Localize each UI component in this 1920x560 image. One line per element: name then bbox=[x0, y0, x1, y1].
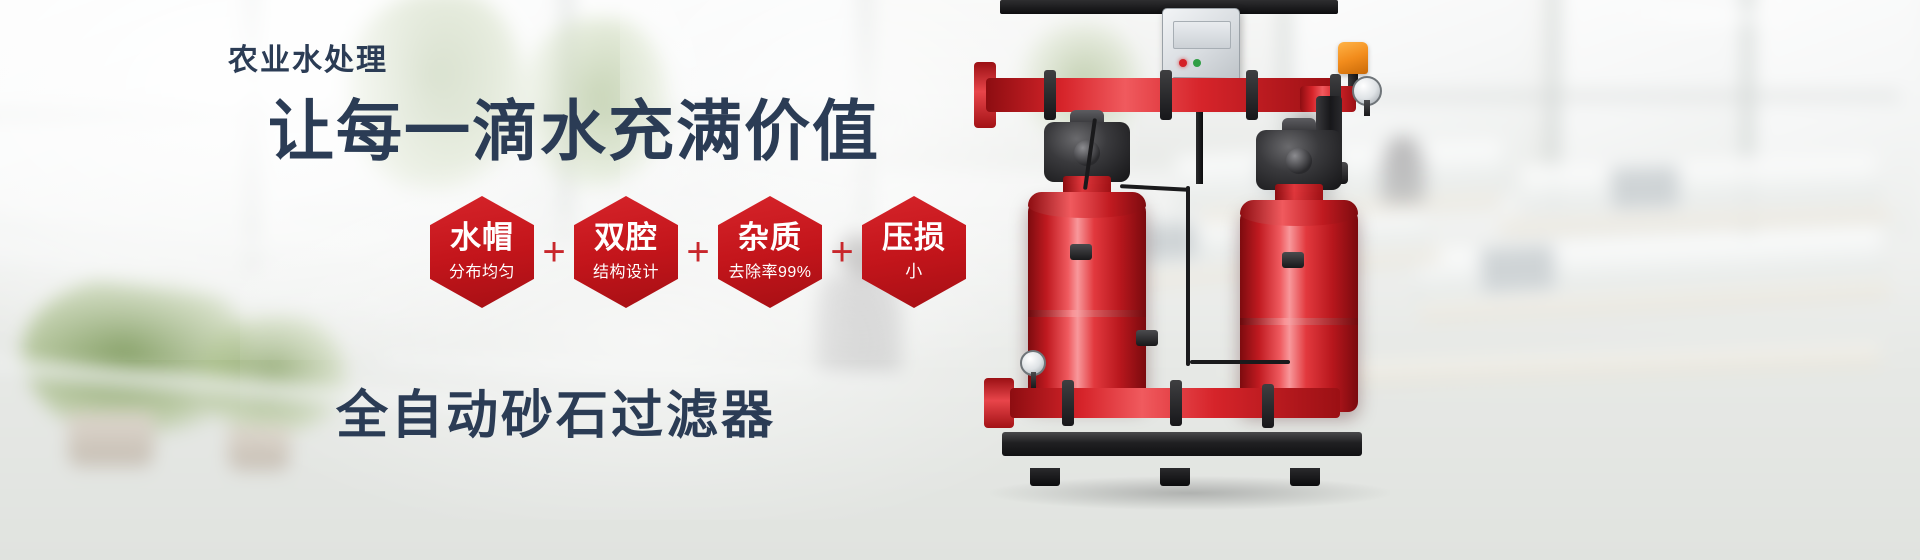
banner-content: 农业水处理 让每一滴水充满价值 水帽 分布均匀 + 双腔 结构设计 + 杂质 bbox=[0, 0, 1060, 560]
hexagon-shape-3: 杂质 去除率99% bbox=[718, 196, 822, 308]
hexagon-shape-1: 水帽 分布均匀 bbox=[430, 196, 534, 308]
base-foot-2 bbox=[1160, 468, 1190, 486]
pipe-flange-2 bbox=[1160, 70, 1172, 120]
bottom-pipe-flange-1 bbox=[1062, 380, 1074, 426]
bottom-pipe-flange-2 bbox=[1170, 380, 1182, 426]
control-cable-4 bbox=[1120, 184, 1190, 192]
badge-3-title: 杂质 bbox=[738, 222, 802, 255]
pipe-flange-3 bbox=[1246, 70, 1258, 120]
badge-3-subtitle: 去除率99% bbox=[728, 258, 811, 282]
badge-1-title: 水帽 bbox=[450, 222, 514, 255]
pressure-gauge-top-stem bbox=[1364, 100, 1370, 116]
feature-badge-row: 水帽 分布均匀 + 双腔 结构设计 + 杂质 去除率99% + bbox=[430, 196, 966, 308]
control-box-led-red bbox=[1179, 59, 1187, 67]
relief-valve bbox=[1338, 42, 1368, 74]
promotional-banner: 农业水处理 让每一滴水充满价值 水帽 分布均匀 + 双腔 结构设计 + 杂质 bbox=[0, 0, 1920, 560]
control-box-mount-post bbox=[1196, 104, 1203, 184]
sand-filter-machine bbox=[1000, 0, 1460, 560]
control-cable-2 bbox=[1186, 186, 1190, 366]
control-cable-3 bbox=[1190, 360, 1290, 364]
feature-badge-3: 杂质 去除率99% bbox=[718, 196, 822, 308]
ceiling-light-3 bbox=[1620, 12, 1800, 21]
feature-badge-4: 压损 小 bbox=[862, 196, 966, 308]
monitor-2 bbox=[1609, 165, 1680, 211]
hexagon-shape-2: 双腔 结构设计 bbox=[574, 196, 678, 308]
badge-1-subtitle: 分布均匀 bbox=[449, 258, 515, 282]
tank-port-3 bbox=[1136, 330, 1158, 346]
badge-2-subtitle: 结构设计 bbox=[593, 258, 659, 282]
feature-badge-2: 双腔 结构设计 bbox=[574, 196, 678, 308]
plus-separator-1: + bbox=[534, 232, 574, 272]
base-foot-3 bbox=[1290, 468, 1320, 486]
badge-2-title: 双腔 bbox=[594, 222, 658, 255]
bottom-pipe-flange-3 bbox=[1262, 384, 1274, 428]
filter-tank-right bbox=[1240, 206, 1358, 412]
badge-4-title: 压损 bbox=[882, 222, 946, 255]
headline-text: 让每一滴水充满价值 bbox=[268, 96, 880, 167]
eyebrow-text: 农业水处理 bbox=[228, 44, 388, 77]
control-box-screen bbox=[1173, 21, 1231, 49]
plus-separator-3: + bbox=[822, 232, 862, 272]
control-box-led-green bbox=[1193, 59, 1201, 67]
plus-separator-2: + bbox=[678, 232, 718, 272]
tank-port-1 bbox=[1070, 244, 1092, 260]
monitor-4 bbox=[1479, 244, 1557, 294]
tank-port-2 bbox=[1282, 252, 1304, 268]
filter-tank-right-band bbox=[1240, 318, 1358, 325]
badge-4-subtitle: 小 bbox=[905, 257, 923, 282]
valve-hub-right bbox=[1286, 148, 1312, 174]
product-title-text: 全自动砂石过滤器 bbox=[336, 388, 776, 445]
feature-badge-1: 水帽 分布均匀 bbox=[430, 196, 534, 308]
filter-tank-right-dome bbox=[1240, 200, 1358, 226]
hexagon-shape-4: 压损 小 bbox=[862, 196, 966, 308]
